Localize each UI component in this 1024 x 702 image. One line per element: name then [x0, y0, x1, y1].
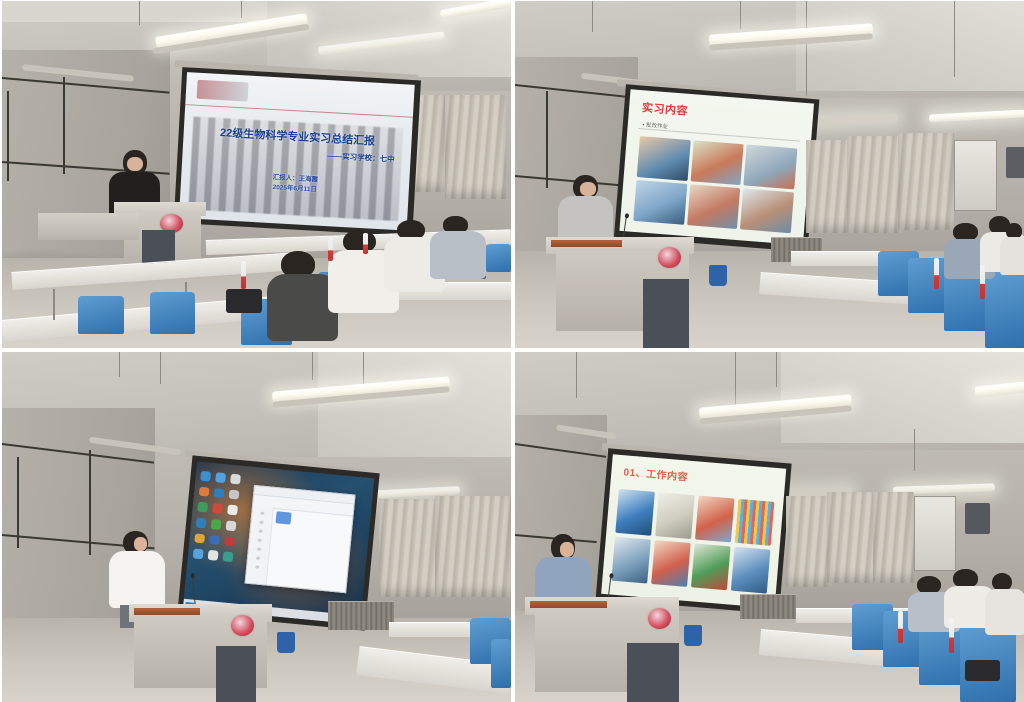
- slide-title: 实习内容: [642, 99, 689, 119]
- desktop-icon[interactable]: [223, 551, 234, 562]
- slide-photo: [735, 498, 775, 545]
- desktop-icon[interactable]: [230, 473, 241, 484]
- audience-torso: [1000, 237, 1024, 276]
- desktop-icon[interactable]: [213, 503, 224, 514]
- lectern-desk: [551, 240, 623, 247]
- auditorium-seat: [150, 292, 196, 334]
- slide-title: 01、工作内容: [623, 463, 689, 483]
- photo-bottom-right[interactable]: 01、工作内容: [515, 352, 1024, 702]
- wall-panel-line: [7, 91, 9, 181]
- curtain: [873, 492, 914, 583]
- desktop-icon[interactable]: [199, 486, 210, 497]
- ceiling-soffit: [796, 1, 1024, 91]
- curtain: [445, 95, 506, 199]
- wall-speaker-icon: [1006, 147, 1024, 178]
- water-bottle: [980, 265, 985, 300]
- lamp-wire: [954, 1, 955, 77]
- nav-item[interactable]: [255, 565, 259, 568]
- nav-item[interactable]: [256, 556, 260, 559]
- presenter-face: [580, 182, 596, 196]
- audience-member: [1000, 223, 1024, 275]
- desktop-icon[interactable]: [193, 548, 204, 559]
- desktop-icon[interactable]: [198, 501, 209, 512]
- lamp-wire: [139, 1, 140, 25]
- desktop-icon[interactable]: [224, 536, 235, 547]
- wall-panel-line: [89, 450, 91, 555]
- slide-photo: [741, 188, 795, 233]
- nav-item[interactable]: [260, 511, 264, 514]
- classroom-scene: 01、工作内容: [515, 352, 1024, 702]
- audience-member: [985, 573, 1024, 636]
- lamp-wire: [119, 352, 120, 377]
- photo-bottom-left[interactable]: [2, 352, 511, 702]
- desk-leg: [53, 289, 55, 320]
- slide-photo: [691, 543, 731, 590]
- photo-top-right[interactable]: 实习内容 • 批改作业: [515, 1, 1024, 348]
- auditorium-seat: [985, 272, 1024, 348]
- presenter-face: [134, 537, 147, 551]
- lamp-wire: [735, 352, 736, 405]
- classroom-scene: 实习内容 • 批改作业: [515, 1, 1024, 348]
- desktop-icon[interactable]: [227, 504, 238, 515]
- curtain: [847, 136, 903, 233]
- bag: [226, 289, 262, 313]
- presenter-face: [560, 542, 573, 557]
- nav-item[interactable]: [259, 529, 263, 532]
- lamp-wire: [576, 352, 577, 398]
- desktop-icon[interactable]: [216, 472, 227, 483]
- lamp-wire: [776, 352, 777, 387]
- projector-screen: 实习内容 • 批改作业: [620, 89, 815, 245]
- slide-divider: [185, 104, 413, 118]
- slide-photo: [655, 491, 695, 538]
- waste-bin: [709, 265, 727, 286]
- water-bottle: [241, 261, 246, 289]
- wall-panel-line: [63, 77, 65, 174]
- lectern-panel: [216, 646, 257, 702]
- lectern-desk: [530, 601, 607, 608]
- slide-photo-grid: [611, 488, 775, 593]
- slide-photo: [651, 539, 691, 586]
- curtain: [898, 133, 954, 230]
- nav-item[interactable]: [259, 520, 263, 523]
- photo-top-left[interactable]: 22级生物科学专业实习总结汇报 ——实习学校：七中 汇报人：王海霞 2025年6…: [2, 1, 511, 348]
- slide-photo: [687, 184, 741, 229]
- lectern-desk: [134, 608, 200, 615]
- curtain: [379, 499, 440, 597]
- lectern-panel: [627, 643, 678, 702]
- slide-photo: [634, 180, 688, 225]
- desktop-icon[interactable]: [208, 550, 219, 561]
- desktop-icon[interactable]: [210, 534, 221, 545]
- lamp-wire: [740, 1, 741, 29]
- water-bottle: [328, 237, 333, 261]
- audience-torso: [430, 231, 486, 278]
- auditorium-seat: [486, 244, 511, 272]
- slide-photo: [615, 488, 655, 535]
- auditorium-seat: [78, 296, 124, 334]
- slide-photo: [611, 536, 651, 583]
- presenter-torso: [109, 551, 165, 608]
- slide-photo: [691, 140, 745, 185]
- desktop-icon[interactable]: [196, 517, 207, 528]
- water-bottle: [363, 233, 368, 254]
- water-bottle: [934, 258, 939, 289]
- slide-photo: [731, 546, 771, 593]
- water-bottle: [898, 611, 903, 643]
- lamp-wire: [160, 352, 161, 384]
- ceiling-soffit: [318, 352, 511, 457]
- wall-speaker-icon: [965, 503, 991, 535]
- desktop-icon[interactable]: [214, 487, 225, 498]
- lamp-wire: [241, 1, 242, 18]
- curtain: [786, 496, 832, 587]
- lamp-wire: [914, 429, 915, 471]
- water-bottle: [949, 618, 954, 653]
- curtain: [806, 140, 852, 234]
- selected-file-item[interactable]: [276, 511, 292, 524]
- classroom-scene: 22级生物科学专业实习总结汇报 ——实习学校：七中 汇报人：王海霞 2025年6…: [2, 1, 511, 348]
- waste-bin: [277, 632, 295, 653]
- lectern-panel: [643, 279, 689, 348]
- bag: [965, 660, 1001, 681]
- lamp-wire: [312, 352, 313, 380]
- classroom-scene: [2, 352, 511, 702]
- projector-screen: 01、工作内容: [601, 454, 786, 608]
- desktop-icon[interactable]: [201, 470, 212, 481]
- desktop-icon-grid: [193, 470, 240, 562]
- desktop-icon[interactable]: [226, 520, 237, 531]
- presenter-face: [127, 157, 143, 172]
- nav-item[interactable]: [257, 547, 261, 550]
- photo-collage: 22级生物科学专业实习总结汇报 ——实习学校：七中 汇报人：王海霞 2025年6…: [0, 0, 1024, 701]
- window: [914, 496, 957, 572]
- desktop-icon[interactable]: [211, 519, 222, 530]
- desktop-icon[interactable]: [229, 489, 240, 500]
- slide-photo-grid: [634, 136, 798, 234]
- nav-item[interactable]: [258, 538, 262, 541]
- lamp-wire: [806, 1, 807, 98]
- radiator: [328, 601, 394, 630]
- window: [954, 140, 997, 211]
- lectern-base: [38, 213, 140, 241]
- auditorium-seat: [491, 639, 511, 688]
- projector-screen: 22级生物科学专业实习总结汇报 ——实习学校：七中 汇报人：王海霞 2025年6…: [179, 72, 415, 230]
- file-explorer-window[interactable]: [245, 484, 356, 592]
- audience-member: [430, 216, 486, 278]
- school-emblem-icon: [648, 608, 671, 629]
- curtain: [435, 496, 511, 598]
- audience-torso: [985, 589, 1024, 636]
- lamp-wire: [592, 1, 593, 32]
- slide-photo: [744, 144, 798, 189]
- slide-photo: [637, 136, 691, 181]
- waste-bin: [684, 625, 702, 646]
- school-logo-icon: [197, 80, 248, 102]
- curtain: [827, 492, 878, 583]
- wall-panel-line: [546, 91, 548, 188]
- wall-panel-line: [17, 457, 19, 548]
- school-emblem-icon: [231, 615, 254, 636]
- desktop-icon[interactable]: [195, 533, 206, 544]
- radiator: [740, 594, 796, 620]
- slide-photo: [695, 495, 735, 542]
- explorer-nav-pane[interactable]: [246, 504, 274, 583]
